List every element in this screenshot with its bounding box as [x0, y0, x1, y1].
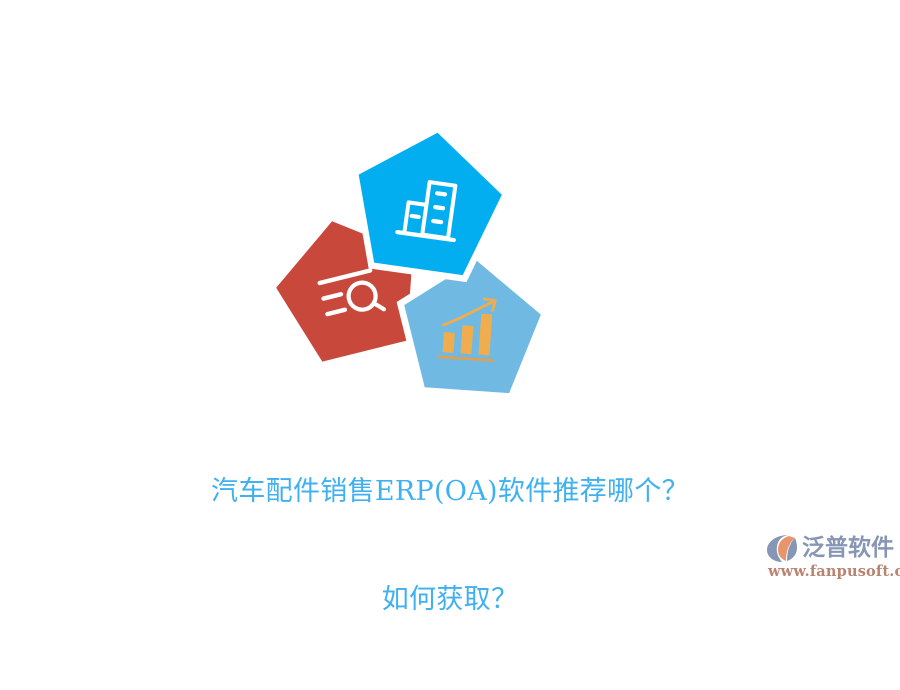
watermark-url-text: www.fanpusoft.com [768, 563, 900, 580]
watermark-brand-row: 泛普软件 [766, 531, 894, 565]
fanpu-logo-mark [766, 533, 798, 563]
page-title-line-1: 汽车配件销售ERP(OA)软件推荐哪个？ [0, 474, 900, 510]
poster-canvas: 汽车配件销售ERP(OA)软件推荐哪个？ 如何获取？ 泛普软件 www.fanp… [0, 0, 900, 600]
watermark-brand-text: 泛普软件 [802, 535, 894, 561]
watermark: 泛普软件 www.fanpusoft.com [766, 531, 896, 587]
page-title: 汽车配件销售ERP(OA)软件推荐哪个？ 如何获取？ [0, 402, 900, 690]
page-title-line-2: 如何获取？ [0, 582, 900, 618]
blue-pentagon [270, 125, 560, 410]
pentagon-cluster-graphic [270, 125, 560, 410]
